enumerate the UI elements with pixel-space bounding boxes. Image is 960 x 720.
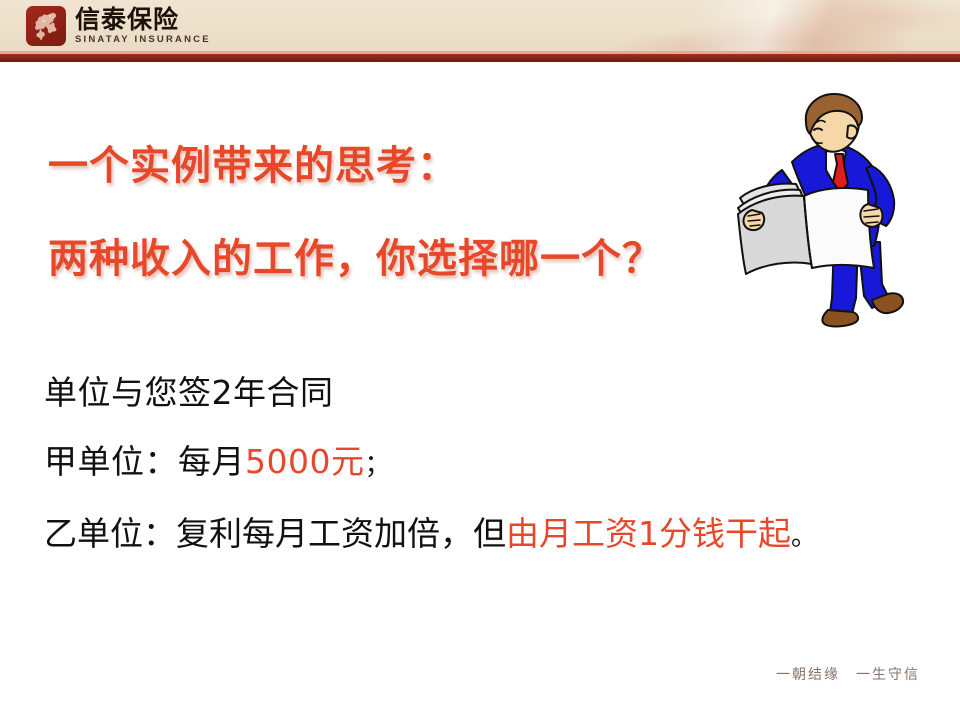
offer-a-amount: 5000元 — [245, 442, 364, 481]
logo-english-name: SINATAY INSURANCE — [75, 34, 211, 45]
body-line-offer-b: 乙单位：复利每月工资加倍，但由月工资1分钱干起。 — [44, 513, 924, 558]
offer-a-suffix: ； — [364, 450, 391, 480]
company-logo: 信泰保险 SINATAY INSURANCE — [26, 6, 211, 48]
body-text-block: 单位与您签2年合同 甲单位：每月5000元； 乙单位：复利每月工资加倍，但由月工… — [44, 372, 924, 558]
offer-a-prefix: 甲单位：每月 — [44, 442, 245, 481]
headline-block: 一个实例带来的思考： 两种收入的工作，你选择哪一个？ — [48, 140, 748, 285]
body-line-offer-a: 甲单位：每月5000元； — [44, 441, 924, 486]
body-line-contract: 单位与您签2年合同 — [44, 372, 924, 414]
headline-line-1: 一个实例带来的思考： — [48, 140, 748, 192]
footer-slogan: 一朝结缘 一生守信 — [776, 666, 920, 684]
header-texture-sheen — [630, 0, 960, 51]
businessman-reading-newspaper-illustration — [722, 92, 918, 330]
slide-canvas: 信泰保险 SINATAY INSURANCE — [0, 0, 960, 720]
offer-b-highlight: 由月工资1分钱干起 — [506, 514, 791, 553]
sinatay-beast-emblem-icon — [26, 6, 66, 46]
header-rule-dark — [0, 54, 960, 62]
offer-b-suffix: 。 — [791, 522, 817, 552]
logo-wordmark: 信泰保险 SINATAY INSURANCE — [75, 6, 211, 45]
offer-b-prefix: 乙单位：复利每月工资加倍，但 — [44, 514, 506, 553]
headline-line-2: 两种收入的工作，你选择哪一个？ — [48, 233, 748, 285]
logo-chinese-name: 信泰保险 — [75, 6, 211, 33]
